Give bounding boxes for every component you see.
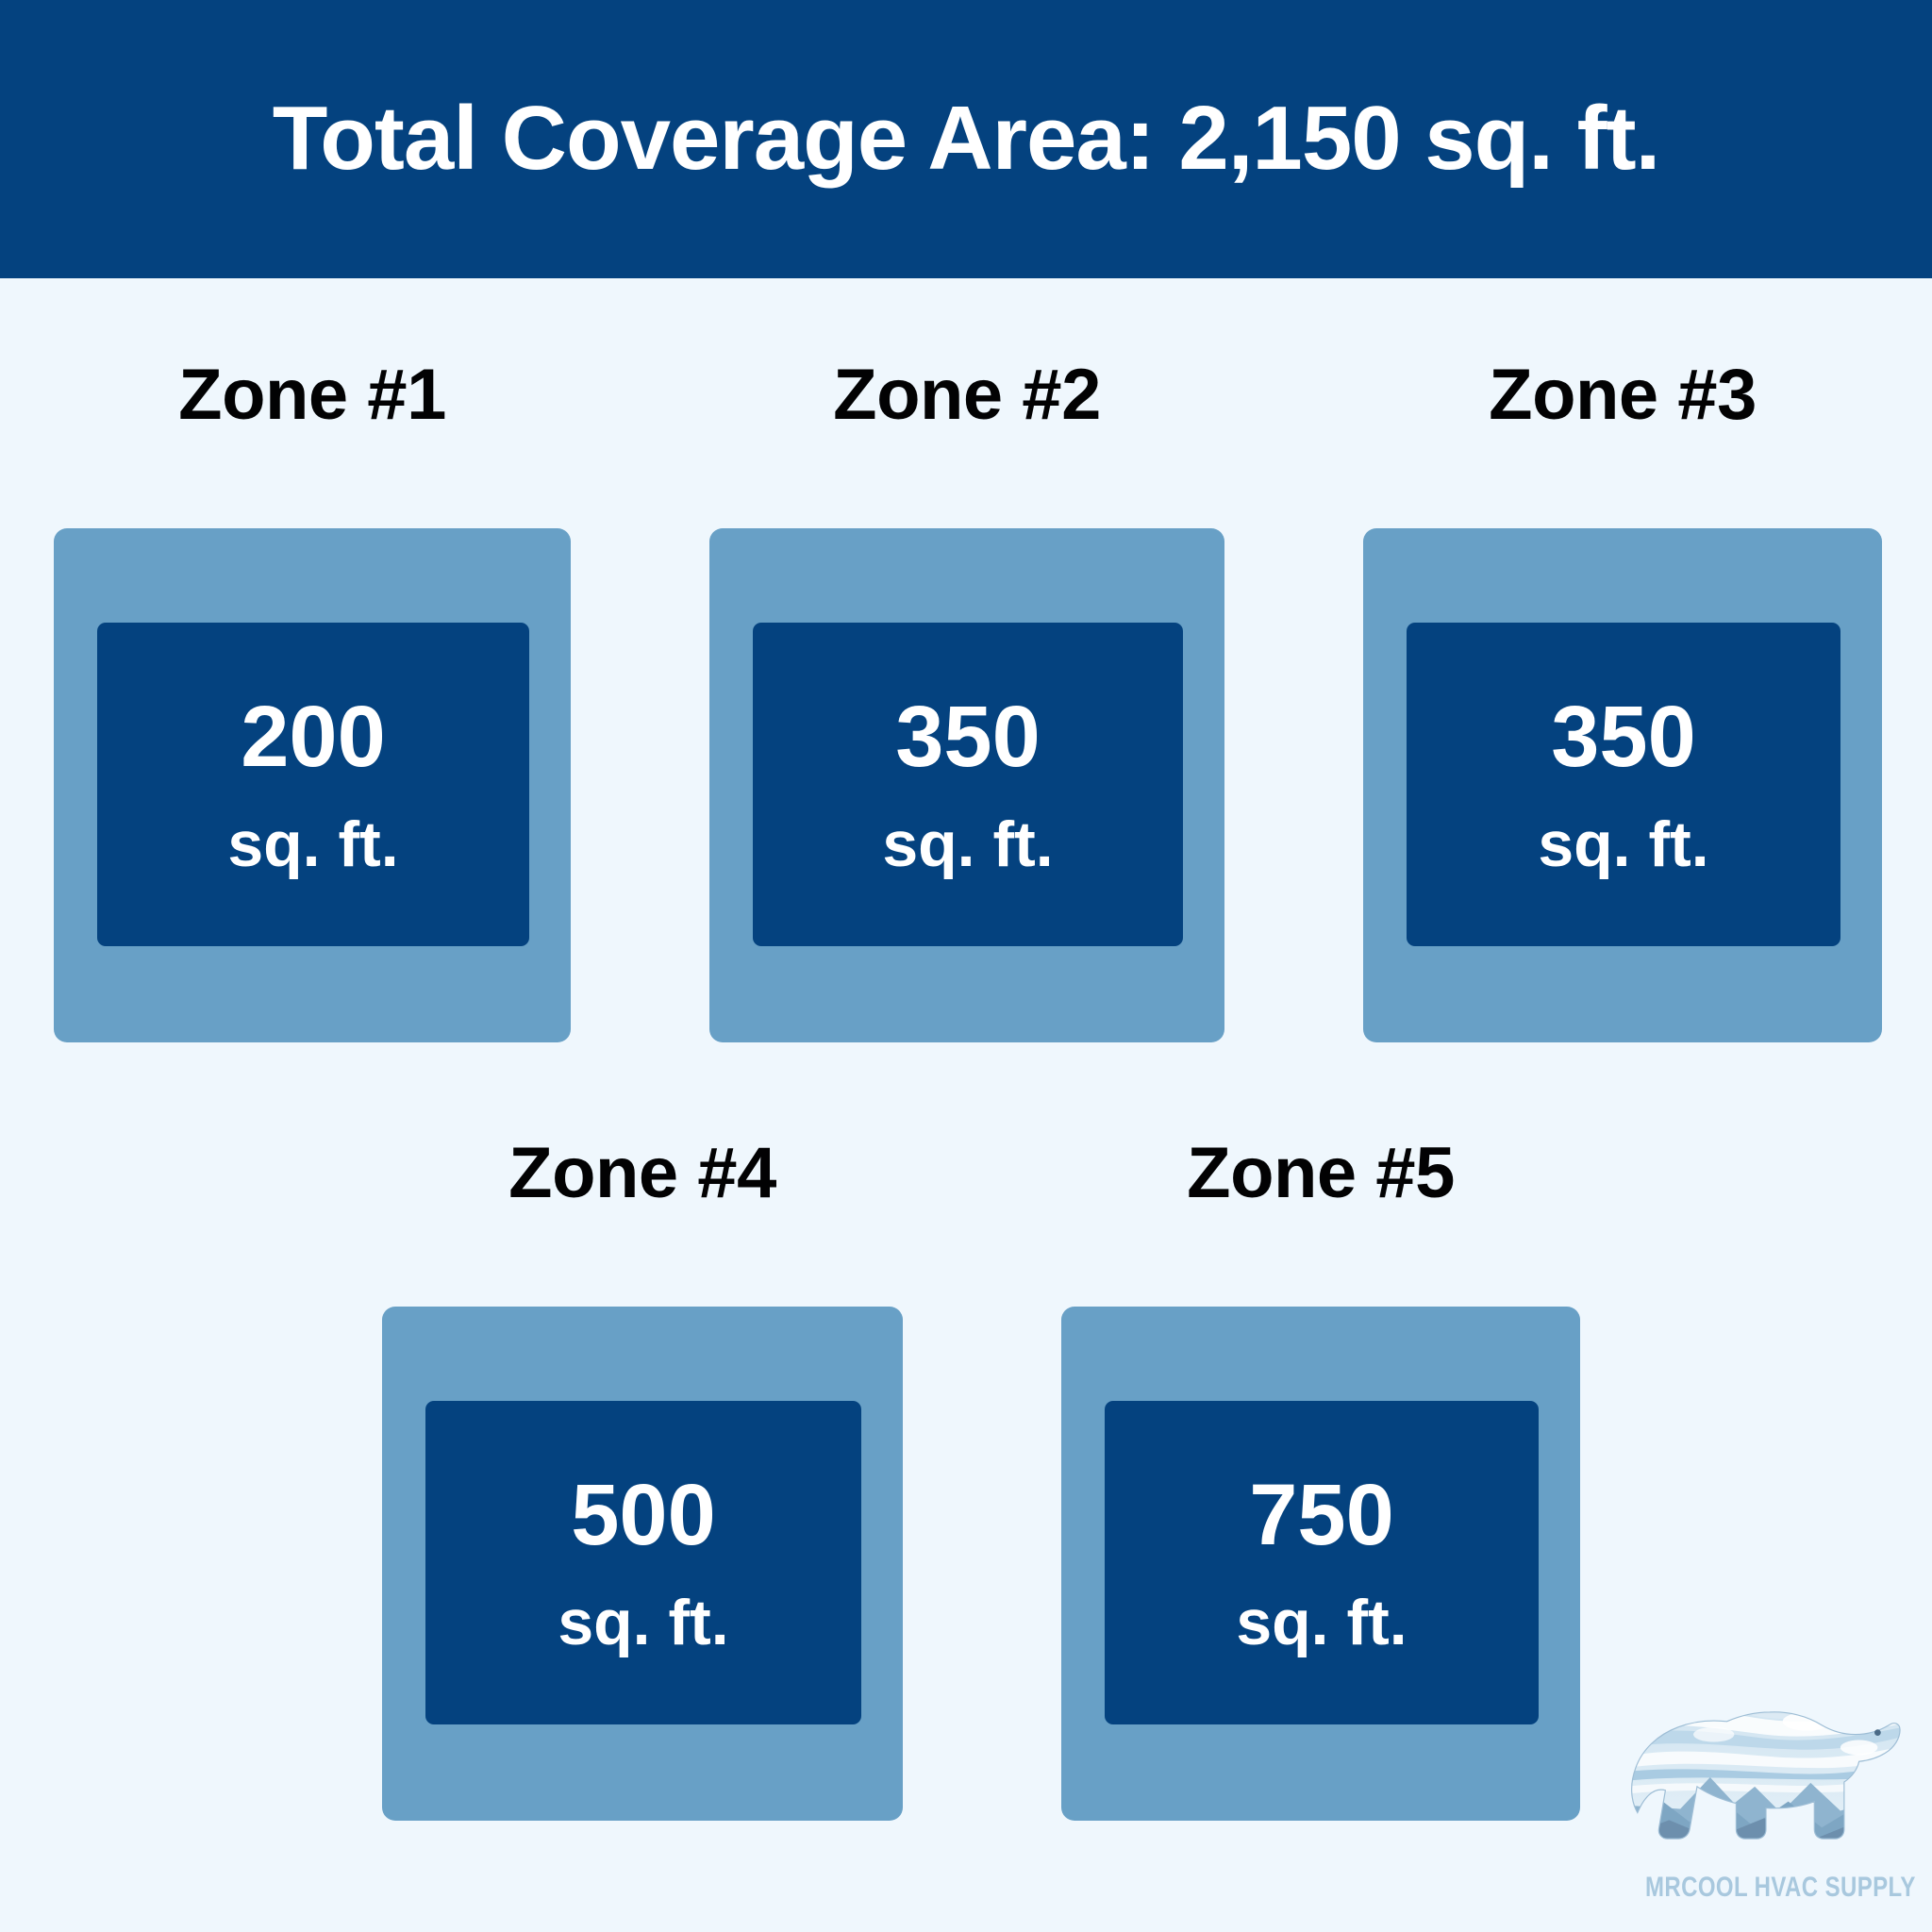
zone-5-unit: sq. ft. bbox=[1236, 1591, 1407, 1655]
zone-4-value: 500 bbox=[571, 1472, 716, 1558]
page-title: Total Coverage Area: 2,150 sq. ft. bbox=[273, 92, 1660, 187]
polar-bear-icon bbox=[1624, 1689, 1904, 1868]
zone-1-value: 200 bbox=[241, 693, 386, 780]
zone-3-unit: sq. ft. bbox=[1538, 812, 1708, 876]
zone-5-value: 750 bbox=[1249, 1472, 1394, 1558]
brand-logo: MRCOOL HVAC SUPPLY bbox=[1615, 1689, 1917, 1924]
zone-5-label: Zone #5 bbox=[1061, 1132, 1580, 1214]
zone-1-value-box: 200 sq. ft. bbox=[97, 623, 529, 946]
zone-1-card[interactable]: 200 sq. ft. bbox=[54, 528, 571, 1042]
header-bar: Total Coverage Area: 2,150 sq. ft. bbox=[0, 0, 1932, 278]
zone-4-card[interactable]: 500 sq. ft. bbox=[382, 1307, 903, 1821]
zone-5-value-box: 750 sq. ft. bbox=[1105, 1401, 1539, 1724]
zone-3-value: 350 bbox=[1551, 693, 1696, 780]
zone-3-value-box: 350 sq. ft. bbox=[1407, 623, 1840, 946]
zone-2-value-box: 350 sq. ft. bbox=[753, 623, 1183, 946]
zone-5-card[interactable]: 750 sq. ft. bbox=[1061, 1307, 1580, 1821]
zone-3-label: Zone #3 bbox=[1363, 354, 1882, 436]
bear-landscape-fill bbox=[1624, 1690, 1904, 1866]
bear-eye-icon bbox=[1874, 1729, 1881, 1736]
zone-4-value-box: 500 sq. ft. bbox=[425, 1401, 861, 1724]
zone-2-label: Zone #2 bbox=[709, 354, 1224, 436]
zone-4-label: Zone #4 bbox=[382, 1132, 903, 1214]
zone-1-unit: sq. ft. bbox=[227, 812, 398, 876]
zone-1-label: Zone #1 bbox=[54, 354, 571, 436]
zone-2-unit: sq. ft. bbox=[882, 812, 1053, 876]
brand-wordmark: MRCOOL HVAC SUPPLY bbox=[1645, 1872, 1887, 1904]
zone-2-value: 350 bbox=[895, 693, 1041, 780]
zone-3-card[interactable]: 350 sq. ft. bbox=[1363, 528, 1882, 1042]
zones-grid: Zone #1 200 sq. ft. Zone #2 350 sq. ft. … bbox=[0, 278, 1932, 1932]
zone-2-card[interactable]: 350 sq. ft. bbox=[709, 528, 1224, 1042]
zone-4-unit: sq. ft. bbox=[558, 1591, 728, 1655]
